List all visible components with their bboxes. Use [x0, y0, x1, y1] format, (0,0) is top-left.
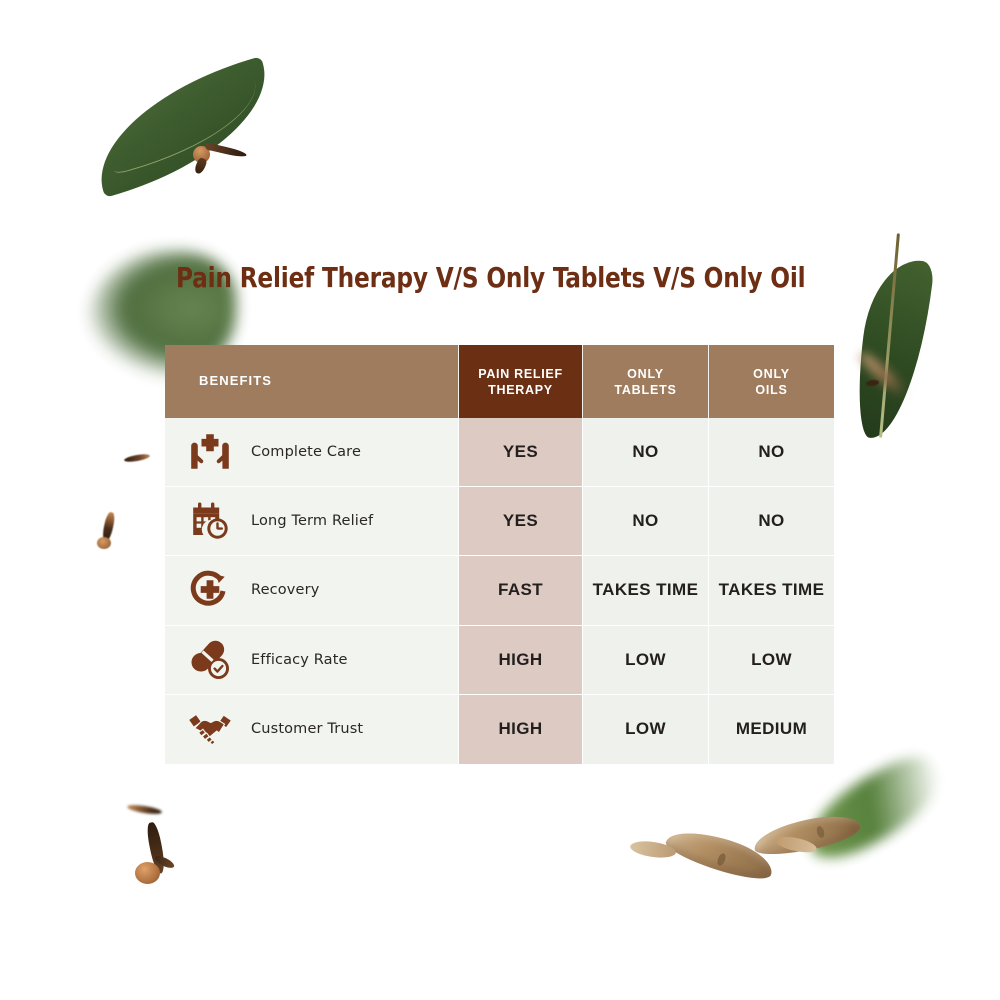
- column-header-only-oils: ONLY OILS: [709, 345, 834, 418]
- cell-only-tablets: NO: [583, 487, 709, 556]
- header-line-2: THERAPY: [488, 383, 553, 397]
- header-line-1: PAIN RELIEF: [478, 367, 563, 381]
- cell-only-oils: TAKES TIME: [709, 556, 834, 625]
- clove-top-left-tip-icon: [193, 157, 208, 175]
- header-line-1: ONLY: [627, 367, 664, 381]
- table-row: Efficacy Rate HIGH LOW LOW: [165, 626, 834, 695]
- benefit-cell: Efficacy Rate: [165, 626, 459, 695]
- clove-bottom-left-stem-icon: [127, 803, 163, 815]
- hands-holding-cross-icon: [187, 431, 233, 473]
- dried-root-left-spot-icon: [716, 852, 727, 867]
- table-header-row: BENEFITS PAIN RELIEF THERAPY ONLY TABLET…: [165, 345, 834, 418]
- clove-top-left-stem-icon: [205, 142, 247, 158]
- dried-root-left-tip-icon: [629, 839, 677, 860]
- comparison-table-wrapper: BENEFITS PAIN RELIEF THERAPY ONLY TABLET…: [165, 345, 834, 764]
- dried-root-right-icon: [751, 810, 863, 860]
- clove-top-left-head-icon: [191, 144, 212, 165]
- calendar-clock-icon: [187, 500, 233, 542]
- cell-only-oils: NO: [709, 487, 834, 556]
- cell-only-tablets: NO: [583, 418, 709, 487]
- clove-right-dot-icon: [866, 379, 880, 387]
- header-line-1: ONLY: [753, 367, 790, 381]
- benefit-label: Complete Care: [251, 444, 361, 460]
- cell-only-tablets: TAKES TIME: [583, 556, 709, 625]
- handshake-icon: [187, 708, 233, 750]
- cell-only-tablets: LOW: [583, 695, 709, 764]
- cell-only-oils: LOW: [709, 626, 834, 695]
- cell-pain-relief-therapy: HIGH: [459, 626, 583, 695]
- table-row: Customer Trust HIGH LOW MEDIUM: [165, 695, 834, 764]
- dried-root-right-spot-icon: [815, 825, 825, 838]
- comparison-table: BENEFITS PAIN RELIEF THERAPY ONLY TABLET…: [165, 345, 834, 764]
- clove-bottom-left-body-icon: [145, 821, 167, 874]
- benefit-label: Customer Trust: [251, 721, 363, 737]
- page-root: Pain Relief Therapy V/S Only Tablets V/S…: [0, 0, 1000, 1000]
- column-header-benefits: BENEFITS: [165, 345, 459, 418]
- cell-pain-relief-therapy: YES: [459, 418, 583, 487]
- benefit-cell: Long Term Relief: [165, 487, 459, 556]
- leaf-top-left-icon: [79, 56, 287, 198]
- benefit-label: Efficacy Rate: [251, 652, 348, 668]
- benefit-label: Recovery: [251, 582, 319, 598]
- leaf-right-vein-icon: [879, 233, 900, 437]
- column-header-only-tablets: ONLY TABLETS: [583, 345, 709, 418]
- recovery-cross-arrow-icon: [187, 569, 233, 611]
- clove-bottom-left-arm-icon: [153, 854, 175, 870]
- leaf-right-icon: [851, 255, 935, 443]
- twig-right-blurred-icon: [856, 349, 910, 401]
- cell-only-oils: NO: [709, 418, 834, 487]
- benefit-cell: Customer Trust: [165, 695, 459, 764]
- benefit-cell: Recovery: [165, 556, 459, 625]
- table-row: Complete Care YES NO NO: [165, 418, 834, 487]
- pill-check-icon: [187, 639, 233, 681]
- leaf-vein-icon: [99, 75, 269, 175]
- clove-left-middle-icon: [124, 453, 151, 463]
- benefit-label: Long Term Relief: [251, 513, 373, 529]
- header-line-2: TABLETS: [614, 383, 676, 397]
- cell-pain-relief-therapy: YES: [459, 487, 583, 556]
- cell-pain-relief-therapy: HIGH: [459, 695, 583, 764]
- header-line-2: OILS: [755, 383, 787, 397]
- dried-root-left-icon: [663, 821, 777, 887]
- leaf-bottom-right-icon: [794, 748, 951, 871]
- dried-root-right-tip-icon: [774, 834, 818, 855]
- clove-left-lower-head-icon: [97, 537, 111, 549]
- cell-pain-relief-therapy: FAST: [459, 556, 583, 625]
- clove-bottom-left-head-icon: [135, 862, 160, 884]
- table-row: Long Term Relief YES NO NO: [165, 487, 834, 556]
- page-title: Pain Relief Therapy V/S Only Tablets V/S…: [176, 262, 796, 294]
- clove-left-lower-stem-icon: [101, 511, 116, 542]
- column-header-pain-relief-therapy: PAIN RELIEF THERAPY: [459, 345, 583, 418]
- cell-only-oils: MEDIUM: [709, 695, 834, 764]
- table-row: Recovery FAST TAKES TIME TAKES TIME: [165, 556, 834, 625]
- cell-only-tablets: LOW: [583, 626, 709, 695]
- benefit-cell: Complete Care: [165, 418, 459, 487]
